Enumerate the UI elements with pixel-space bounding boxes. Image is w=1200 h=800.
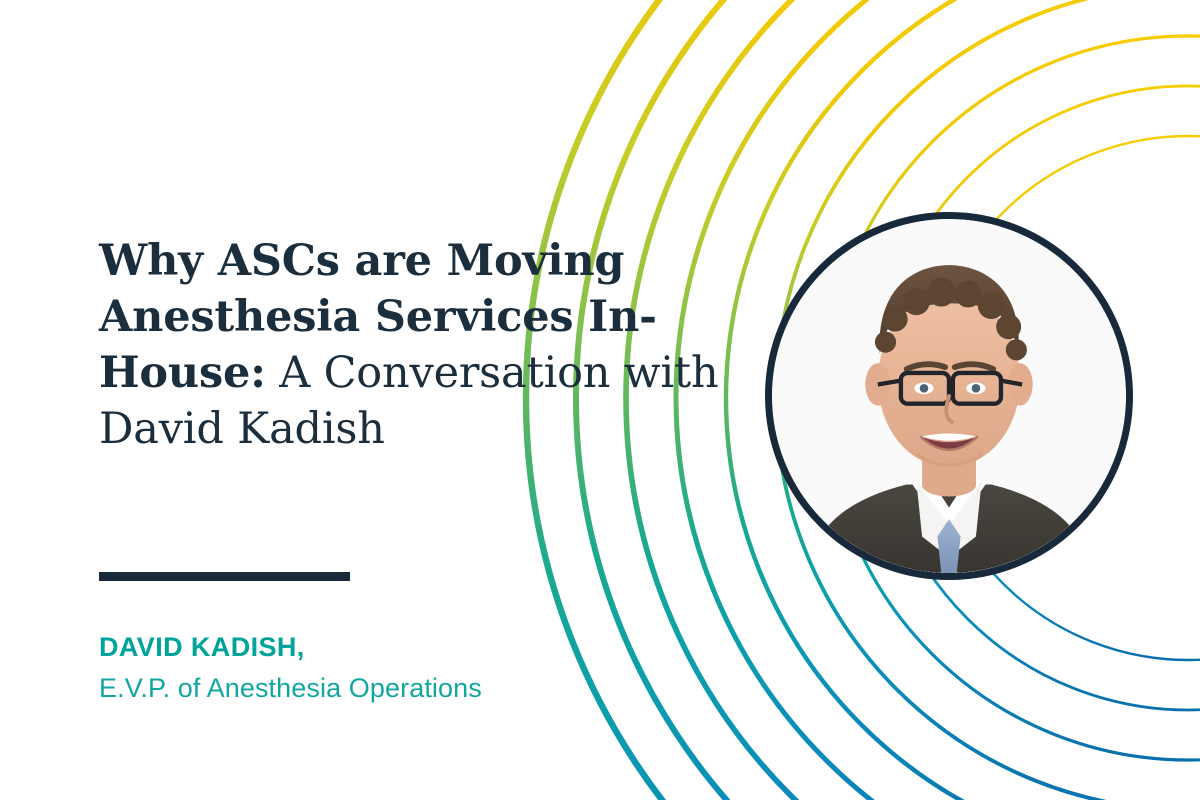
portrait-photo [772,219,1126,573]
avatar [765,212,1133,580]
divider-rule [99,572,350,581]
headline-block: Why ASCs are Moving Anesthesia Services … [99,234,759,458]
page-title: Why ASCs are Moving Anesthesia Services … [99,234,759,458]
byline-block: DAVID KADISH, E.V.P. of Anesthesia Opera… [99,629,482,708]
poster-canvas: Why ASCs are Moving Anesthesia Services … [0,0,1200,800]
speaker-name: DAVID KADISH, [99,629,482,666]
speaker-role: E.V.P. of Anesthesia Operations [99,670,482,707]
